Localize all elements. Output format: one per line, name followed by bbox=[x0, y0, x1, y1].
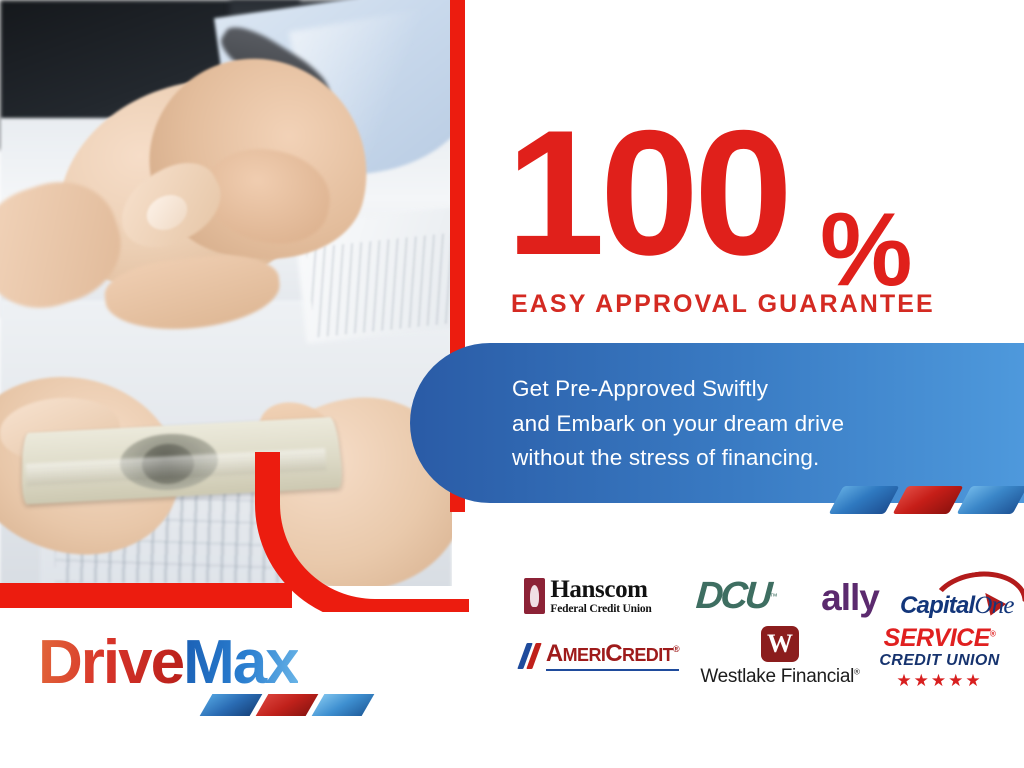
logo-chevron-blue-light-icon bbox=[312, 694, 375, 716]
americredit-underline bbox=[546, 669, 679, 671]
americredit-registered: ® bbox=[673, 644, 679, 654]
partner-logo-capital-one[interactable]: CapitalOne bbox=[900, 570, 1018, 622]
chevron-accent-group bbox=[836, 486, 1016, 514]
chevron-blue-icon bbox=[829, 486, 900, 514]
americredit-slashes-icon bbox=[517, 643, 544, 669]
hanscom-name: Hanscom bbox=[550, 577, 651, 602]
photo-paper-lines bbox=[306, 232, 452, 337]
headline-number: 100 bbox=[506, 104, 788, 282]
logo-chevron-red-icon bbox=[256, 694, 319, 716]
dcu-name: DCU bbox=[695, 575, 771, 618]
westlake-name: Westlake Financial® bbox=[700, 666, 859, 688]
drivemax-logo[interactable]: DriveMax bbox=[38, 632, 298, 694]
partner-logo-hanscom[interactable]: Hanscom Federal Credit Union bbox=[508, 574, 668, 618]
hanscom-emblem-icon bbox=[524, 578, 545, 614]
capital-one-name-capital: Capital bbox=[900, 592, 974, 619]
service-cu-registered: ® bbox=[990, 629, 995, 638]
service-cu-stars-icon: ★★★★★ bbox=[896, 672, 982, 689]
service-cu-subtitle: CREDIT UNION bbox=[879, 653, 999, 669]
ally-name: ally bbox=[821, 577, 879, 619]
hanscom-figure-icon bbox=[530, 585, 539, 607]
logo-text-drive: Drive bbox=[38, 628, 183, 697]
americredit-redit: REDIT bbox=[622, 645, 673, 665]
westlake-name-text: Westlake Financial bbox=[700, 666, 854, 687]
americredit-name: AMERICREDIT® bbox=[546, 642, 679, 666]
chevron-red-icon bbox=[893, 486, 964, 514]
promo-banner: 100 % EASY APPROVAL GUARANTEE Get Pre-Ap… bbox=[0, 0, 1024, 768]
westlake-registered: ® bbox=[854, 668, 860, 677]
banner-line-2: and Embark on your dream drive bbox=[512, 407, 982, 442]
partner-logo-westlake-financial[interactable]: W Westlake Financial® bbox=[700, 626, 860, 688]
logo-text-max: Max bbox=[183, 628, 298, 697]
partner-logo-dcu[interactable]: DCU™ bbox=[682, 576, 792, 616]
capital-one-name-one: One bbox=[974, 592, 1013, 619]
partner-logo-service-credit-union[interactable]: SERVICE® CREDIT UNION ★★★★★ bbox=[872, 628, 1007, 686]
service-cu-service-text: SERVICE bbox=[884, 624, 990, 652]
chevron-blue-light-icon bbox=[957, 486, 1024, 514]
americredit-a: A bbox=[546, 640, 563, 667]
headline-subtitle: EASY APPROVAL GUARANTEE bbox=[511, 290, 935, 319]
americredit-meri: MERI bbox=[563, 645, 606, 665]
hanscom-subtitle: Federal Credit Union bbox=[550, 604, 651, 616]
banner-message: Get Pre-Approved Swiftly and Embark on y… bbox=[512, 372, 982, 476]
logo-chevron-group bbox=[206, 694, 366, 716]
capital-one-name: CapitalOne bbox=[900, 592, 1014, 620]
headline-percent-sign: % bbox=[820, 198, 912, 302]
service-cu-name: SERVICE® bbox=[884, 626, 996, 651]
banner-line-3: without the stress of financing. bbox=[512, 441, 982, 476]
westlake-monogram-icon: W bbox=[761, 626, 799, 662]
partner-lender-logos: Hanscom Federal Credit Union DCU™ ally C… bbox=[500, 566, 1010, 701]
partner-logo-ally[interactable]: ally bbox=[798, 578, 902, 618]
westlake-monogram-letter: W bbox=[767, 631, 793, 657]
headline-group: 100 % bbox=[506, 104, 906, 289]
partner-logo-americredit[interactable]: AMERICREDIT® bbox=[508, 636, 693, 676]
red-frame-horizontal bbox=[0, 583, 292, 608]
dcu-trademark: ™ bbox=[770, 592, 778, 601]
banner-line-1: Get Pre-Approved Swiftly bbox=[512, 372, 982, 407]
logo-chevron-blue-icon bbox=[200, 694, 263, 716]
americredit-c: C bbox=[605, 640, 622, 667]
